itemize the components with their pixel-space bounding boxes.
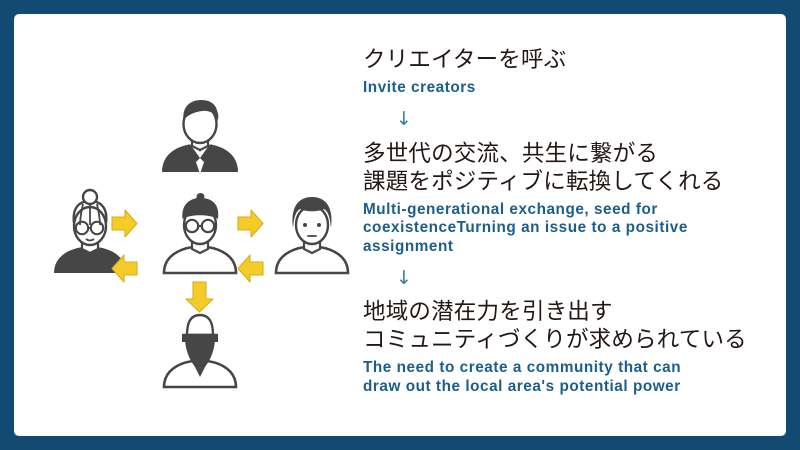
en-line: draw out the local area's potential powe… — [363, 378, 786, 397]
text-block-community-creation: 地域の潜在力を引き出す コミュニティづくりが求められている The need t… — [363, 298, 786, 396]
child-avatar-icon — [276, 197, 348, 273]
arrow-down-icon — [186, 282, 213, 312]
arrow-right-to-center-icon — [238, 255, 263, 282]
jp-line: クリエイターを呼ぶ — [363, 46, 786, 74]
worker-avatar-icon — [164, 315, 236, 387]
en-line: Multi-generational exchange, seed for — [363, 201, 786, 220]
businessman-avatar-icon — [162, 100, 238, 174]
jp-line: 多世代の交流、共生に繋がる — [363, 140, 786, 168]
separator-arrow-2: ↓ — [363, 269, 786, 288]
jp-line: 地域の潜在力を引き出す — [363, 298, 786, 326]
jp-line: 課題をポジティブに転換してくれる — [363, 168, 786, 196]
en-line: coexistenceTurning an issue to a positiv… — [363, 219, 786, 238]
text-column: クリエイターを呼ぶ Invite creators ↓ 多世代の交流、共生に繋が… — [363, 46, 786, 396]
creator-avatar-icon — [164, 193, 236, 273]
exchange-diagram — [50, 90, 360, 390]
slide-canvas: クリエイターを呼ぶ Invite creators ↓ 多世代の交流、共生に繋が… — [14, 14, 786, 436]
separator-arrow-1: ↓ — [363, 110, 786, 129]
text-block-multi-generational-exchange: 多世代の交流、共生に繋がる 課題をポジティブに転換してくれる Multi-gen… — [363, 140, 786, 257]
elderly-woman-avatar-icon — [54, 190, 126, 273]
arrow-left-to-center-icon — [112, 210, 137, 237]
en-line: The need to create a community that can — [363, 359, 786, 378]
arrow-center-to-right-icon — [238, 210, 263, 237]
jp-line: コミュニティづくりが求められている — [363, 326, 786, 354]
en-line: Invite creators — [363, 79, 786, 98]
slide-frame: クリエイターを呼ぶ Invite creators ↓ 多世代の交流、共生に繋が… — [0, 0, 800, 450]
text-block-invite-creators: クリエイターを呼ぶ Invite creators — [363, 46, 786, 98]
en-line: assignment — [363, 238, 786, 257]
